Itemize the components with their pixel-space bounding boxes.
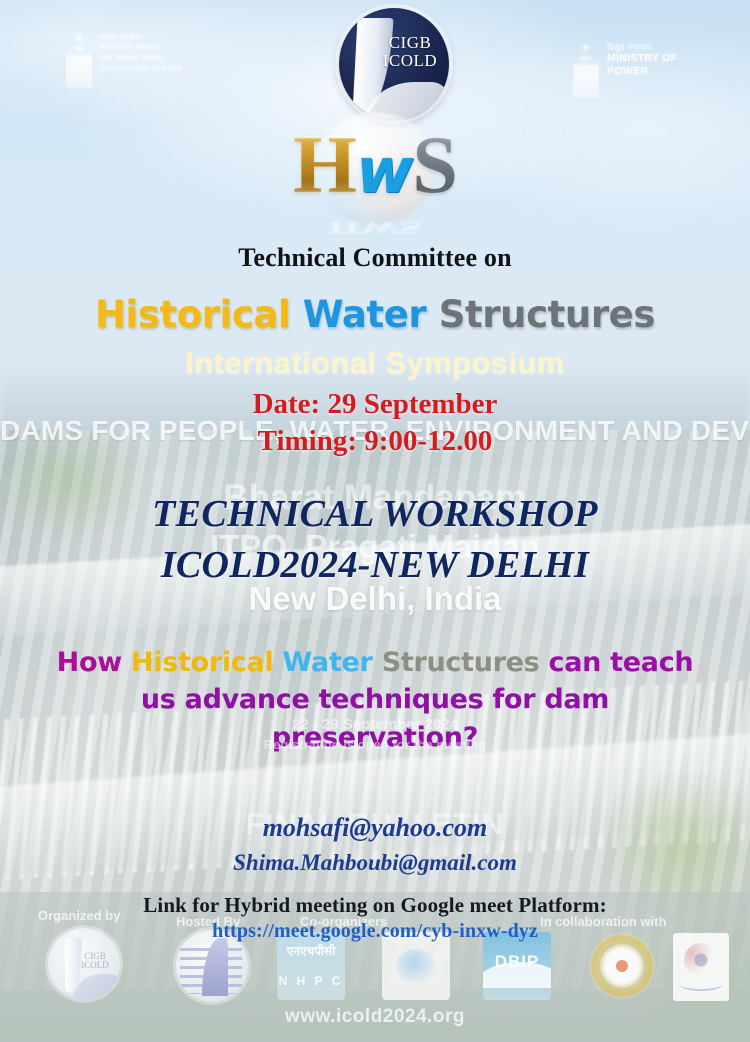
ministry-hindi-line: विद्युत मंत्रालय (607, 42, 677, 52)
date-line: Date: 29 September (0, 386, 750, 423)
page-title: Historical Water Structures (0, 293, 750, 336)
workshop-line2: ICOLD2024-NEW DELHI (0, 540, 750, 591)
title-word-historical: Historical (95, 293, 290, 336)
question-word-historical: Historical (131, 647, 283, 678)
hws-logo: HwS HWS (0, 118, 750, 218)
partner-emblem-icon (396, 949, 436, 983)
india-government-emblem: भारत सरकार जल शक्ति मंत्रालय जल संसाधन व… (66, 28, 266, 98)
hws-letter-s: S (412, 119, 457, 210)
email-secondary[interactable]: Shima.Mahboubi@gmail.com (0, 847, 750, 880)
question-word-canteach: can teach (549, 647, 694, 678)
nhpc-acronym: N H P C (277, 974, 345, 988)
workshop-title-block: TECHNICAL WORKSHOP ICOLD2024-NEW DELHI (0, 489, 750, 590)
committee-line: Technical Committee on (0, 243, 750, 273)
ministry-line1: MINISTRY OF (607, 52, 677, 64)
dam-arch-icon (202, 938, 228, 996)
conference-poster: भारत सरकार जल शक्ति मंत्रालय जल संसाधन व… (0, 0, 750, 1042)
workshop-line1: TECHNICAL WORKSHOP (0, 489, 750, 540)
ministry-line2: POWER (607, 65, 648, 77)
wave-icon (483, 962, 551, 988)
footer-logo-partner-2[interactable] (673, 933, 729, 1001)
google-meet-block: Link for Hybrid meeting on Google meet P… (0, 893, 750, 943)
hws-letter-h: H (293, 119, 356, 210)
icold-footer-text: CIGB ICOLD (74, 952, 116, 971)
ashoka-pillar-icon (66, 28, 92, 88)
question-word-water: Water (283, 647, 382, 678)
date-time-block: Date: 29 September Timing: 9:00-12.00 (0, 386, 750, 460)
timing-line: Timing: 9:00-12.00 (0, 423, 750, 460)
partner-motif-icon (684, 943, 718, 977)
question-word-structures: Structures (382, 647, 549, 678)
question-line3: preservation? (0, 719, 750, 756)
question-word-how: How (57, 647, 131, 678)
email-primary[interactable]: mohsafi@yahoo.com (0, 810, 750, 847)
emblem-left-line1: भारत सरकार (99, 32, 182, 42)
dam-sweep-icon (72, 974, 120, 1000)
title-word-structures: Structures (439, 293, 655, 336)
india-government-emblem-text: भारत सरकार जल शक्ति मंत्रालय जल संसाधन व… (99, 28, 182, 73)
google-meet-label: Link for Hybrid meeting on Google meet P… (0, 893, 750, 918)
hws-wordmark: HwS (0, 124, 750, 206)
ministry-of-power-emblem: विद्युत मंत्रालय MINISTRY OF POWER (573, 38, 733, 100)
icold-logo-line2: ICOLD (383, 51, 437, 70)
emblem-left-line4: Government of India (99, 63, 182, 73)
partner-curve-icon (679, 977, 723, 991)
ashoka-pillar-icon (573, 38, 599, 98)
icold-logo-text: CIGB ICOLD (377, 34, 443, 70)
question-block: How Historical Water Structures can teac… (0, 644, 750, 756)
title-word-water: Water (303, 293, 427, 336)
contact-emails: mohsafi@yahoo.com Shima.Mahboubi@gmail.c… (0, 810, 750, 880)
icold-footer-line2: ICOLD (81, 960, 109, 970)
seal-center-icon (616, 960, 628, 972)
hws-letter-w: w (356, 134, 412, 207)
google-meet-link[interactable]: https://meet.google.com/cyb-inxw-dyz (0, 920, 750, 943)
nhpc-hindi-text: एनएचपीसी (277, 942, 345, 959)
icold-logo: CIGB ICOLD (339, 8, 449, 120)
emblem-left-line3: जल संसाधन विभाग (99, 53, 182, 63)
icold-logo-line1: CIGB (389, 33, 432, 52)
ministry-of-power-text: विद्युत मंत्रालय MINISTRY OF POWER (607, 38, 677, 78)
question-line2: us advance techniques for dam (0, 681, 750, 718)
hws-reflection: HWS (0, 217, 750, 238)
question-line1: How Historical Water Structures can teac… (0, 644, 750, 681)
emblem-left-line2: जल शक्ति मंत्रालय (99, 42, 182, 52)
partner-card-logo (673, 933, 729, 1001)
